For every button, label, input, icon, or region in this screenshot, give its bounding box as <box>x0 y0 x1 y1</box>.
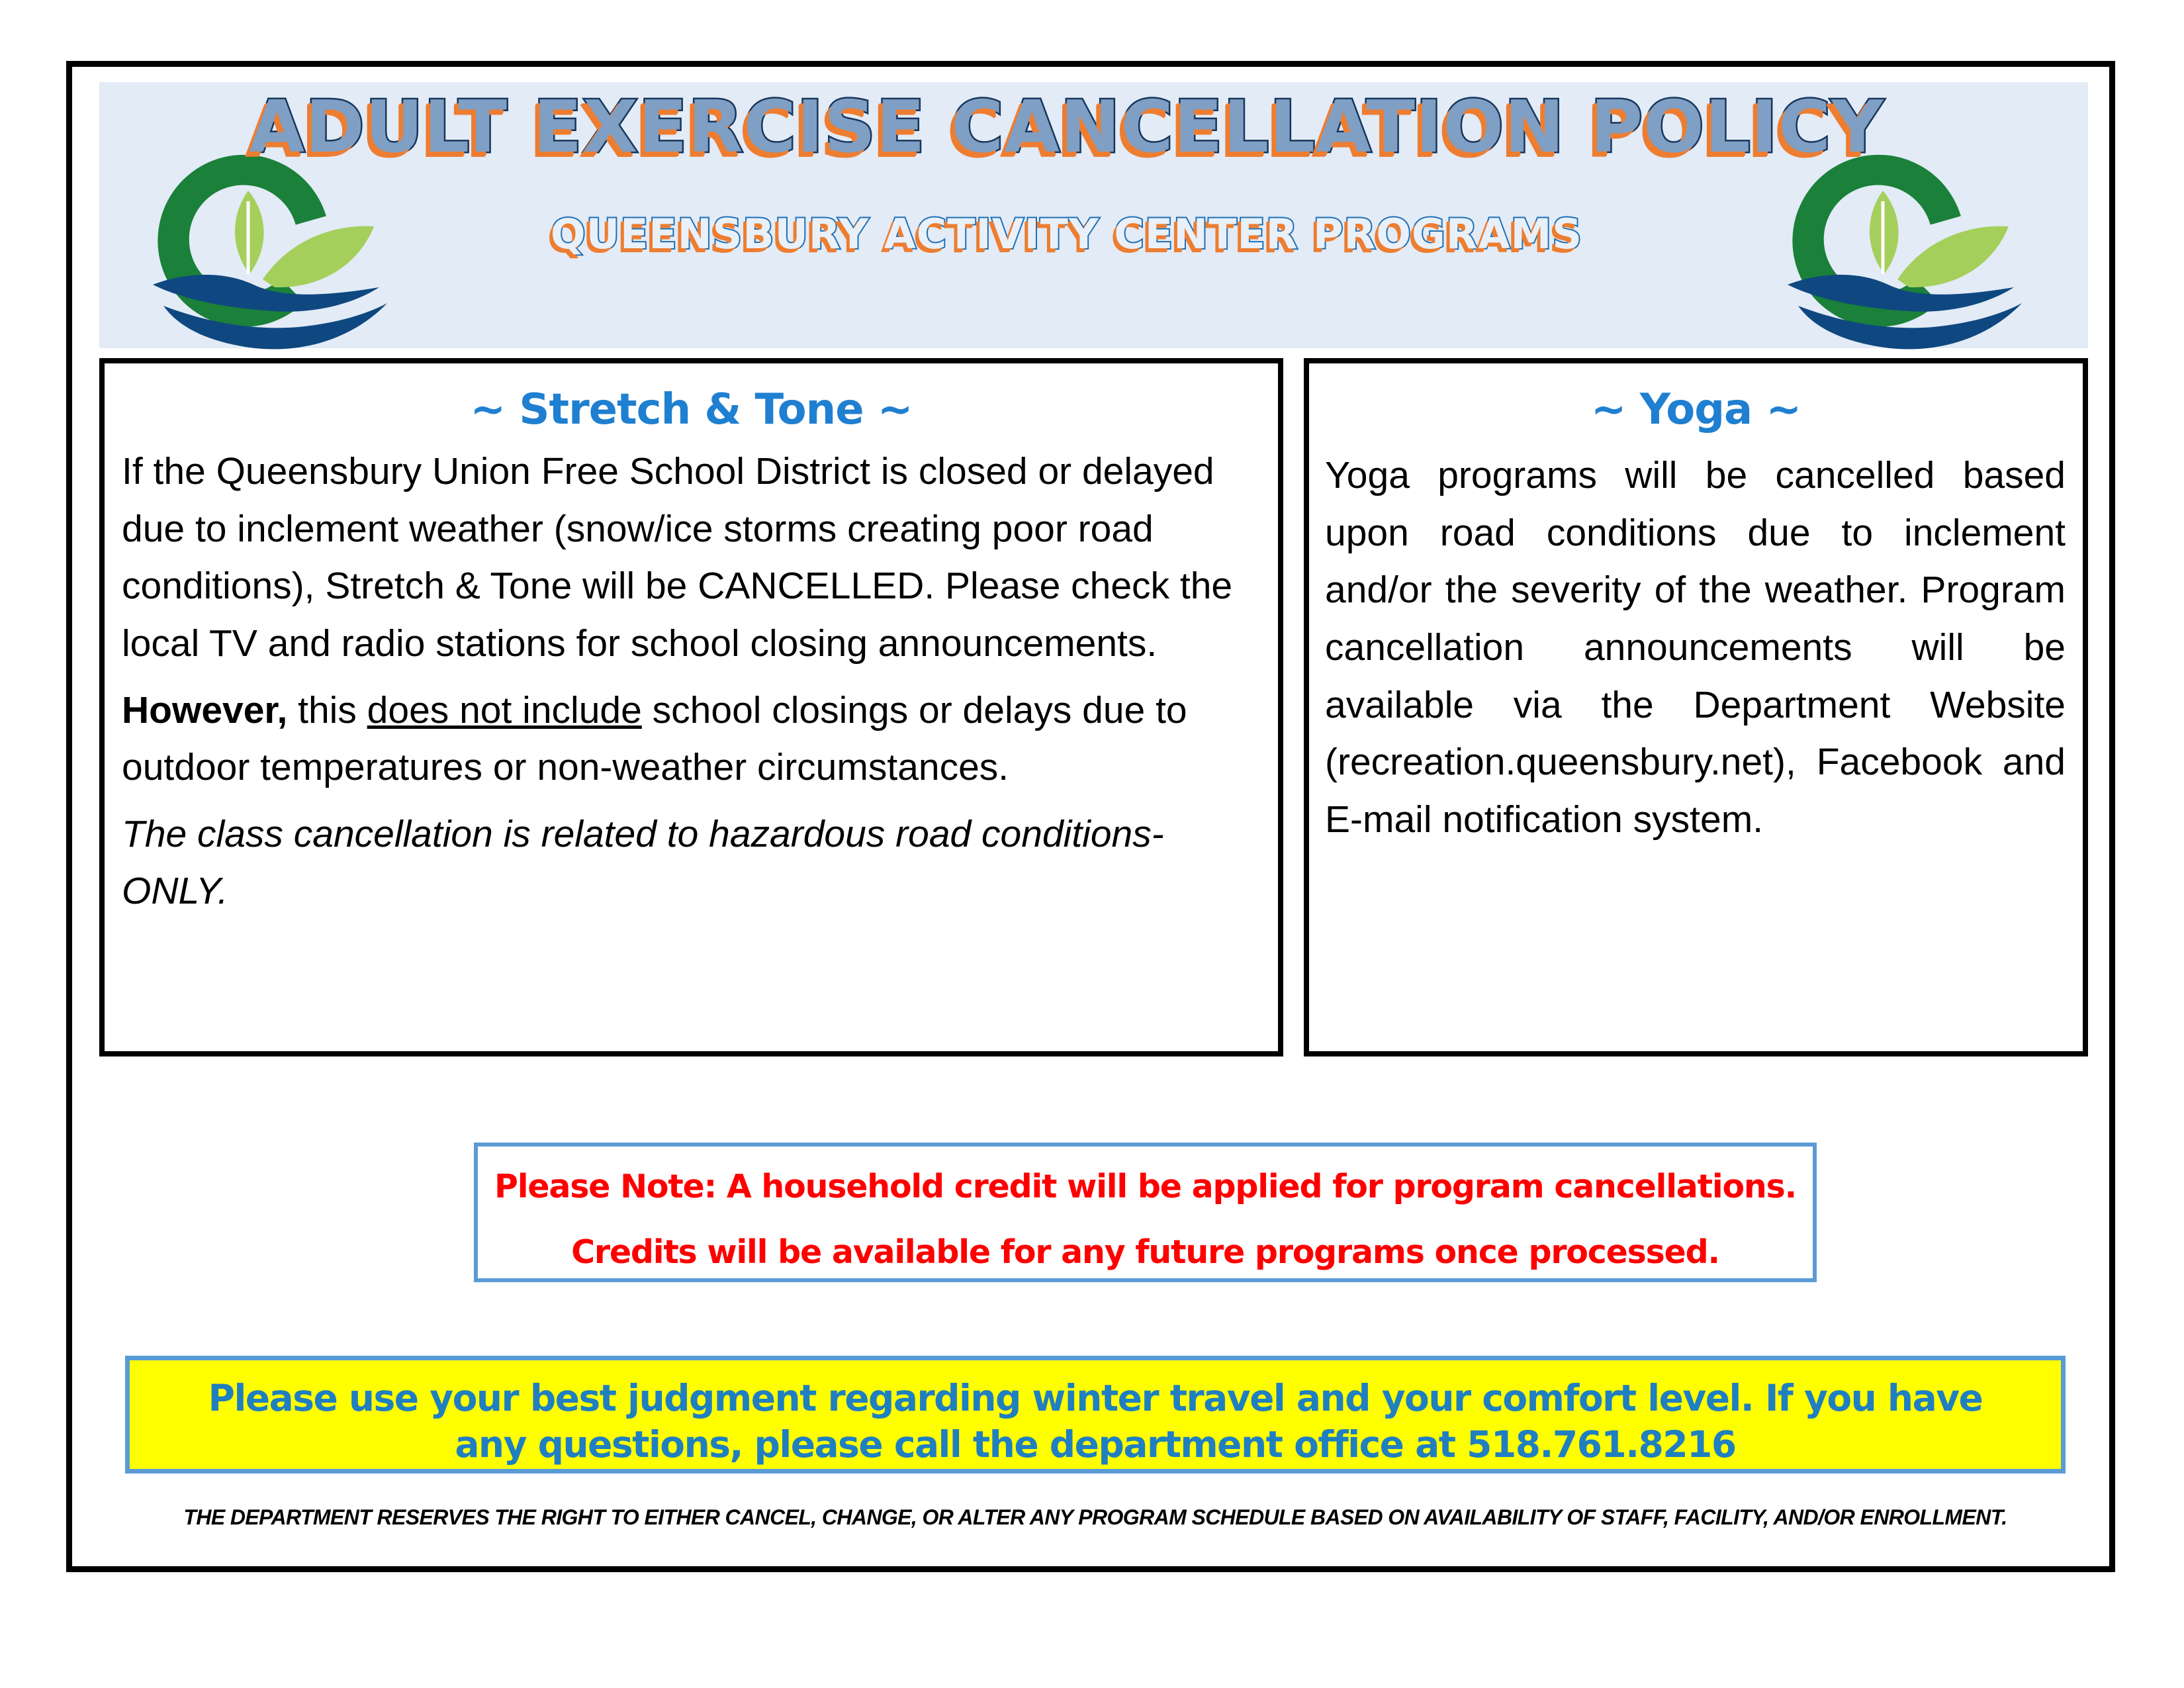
advisory-line-1: Please use your best judgment regarding … <box>130 1375 2061 1421</box>
section-heading-yoga: ~ Yoga ~ <box>1309 389 2083 431</box>
please-note-box: Please Note: A household credit will be … <box>474 1143 1817 1282</box>
please-note-line-1: Please Note: A household credit will be … <box>478 1170 1813 1203</box>
section-heading-stretch-and-tone: ~ Stretch & Tone ~ <box>105 389 1278 431</box>
paragraph-bold-lead: However, <box>122 689 287 731</box>
please-note-line-2: Credits will be available for any future… <box>478 1236 1813 1268</box>
paragraph-italic: The class cancellation is related to haz… <box>122 806 1262 920</box>
paragraph: If the Queensbury Union Free School Dist… <box>122 443 1262 673</box>
section-stretch-and-tone: ~ Stretch & Tone ~ If the Queensbury Uni… <box>99 358 1283 1056</box>
section-yoga: ~ Yoga ~ Yoga programs will be cancelled… <box>1304 358 2088 1056</box>
policy-flyer-page: ADULT EXERCISE CANCELLATION POLICY QUEEN… <box>66 61 2115 1572</box>
paragraph-rich: However, this does not include school cl… <box>122 682 1262 796</box>
paragraph-underlined: does not include <box>367 689 642 731</box>
section-body-stretch-and-tone: If the Queensbury Union Free School Dist… <box>105 431 1278 920</box>
queensbury-logo-right <box>1747 123 2025 361</box>
paragraph: Yoga programs will be cancelled based up… <box>1325 447 2066 848</box>
queensbury-logo-left <box>112 123 390 361</box>
section-body-yoga: Yoga programs will be cancelled based up… <box>1309 431 2083 848</box>
footer-disclaimer: THE DEPARTMENT RESERVES THE RIGHT TO EIT… <box>125 1507 2066 1528</box>
advisory-box: Please use your best judgment regarding … <box>125 1356 2066 1474</box>
advisory-line-2: any questions, please call the departmen… <box>130 1421 2061 1468</box>
paragraph-mid: this <box>287 689 367 731</box>
